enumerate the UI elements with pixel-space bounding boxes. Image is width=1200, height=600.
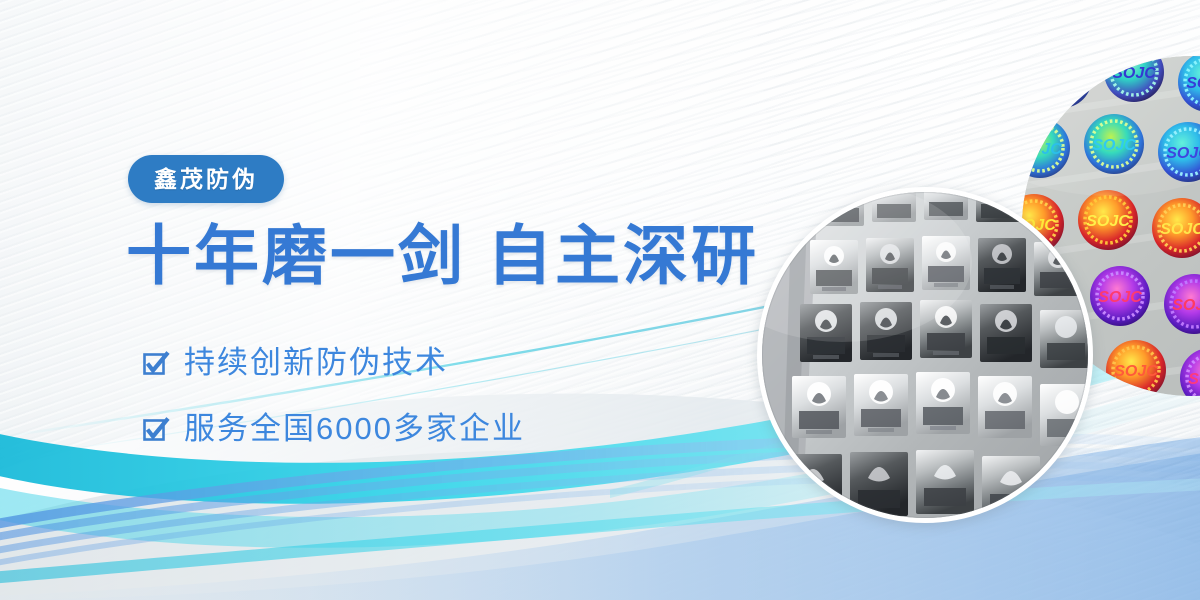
checkbox-checked-icon	[142, 415, 170, 443]
svg-text:SOJC: SOJC	[1114, 363, 1158, 380]
silver-label-sheet-image	[757, 187, 1093, 523]
page-title: 十年磨一剑 自主深研	[126, 222, 759, 290]
svg-text:SOJC: SOJC	[1188, 371, 1200, 388]
list-item-label: 持续创新防伪技术	[184, 347, 448, 378]
feature-list: 持续创新防伪技术 服务全国6000多家企业	[142, 336, 525, 468]
list-item: 服务全国6000多家企业	[142, 402, 525, 454]
promo-banner: SOJC SOJC SOJC SOJC SOJC SOJC SOJC SOJC …	[0, 0, 1200, 600]
brand-badge-label: 鑫茂防伪	[154, 168, 258, 191]
brand-badge: 鑫茂防伪	[128, 155, 284, 203]
list-item-label: 服务全国6000多家企业	[184, 413, 525, 444]
svg-text:SOJC: SOJC	[1160, 221, 1200, 238]
checkbox-checked-icon	[142, 349, 170, 377]
svg-text:SOJC: SOJC	[1098, 289, 1142, 306]
svg-text:SOJC: SOJC	[1086, 213, 1130, 230]
svg-text:SOJC: SOJC	[1172, 297, 1200, 314]
list-item: 持续创新防伪技术	[142, 336, 525, 388]
silver-labels-graphic	[762, 192, 1088, 518]
